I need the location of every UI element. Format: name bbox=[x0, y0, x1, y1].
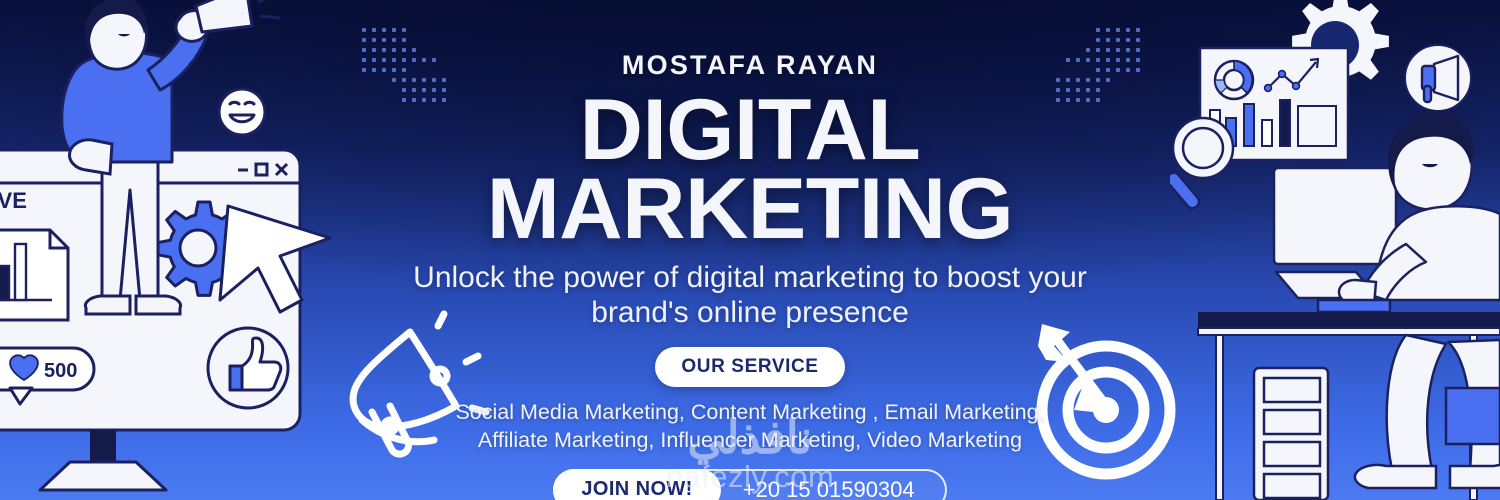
phone-number[interactable]: +20 15 01590304 bbox=[721, 477, 941, 500]
banner-content: MOSTAFA RAYAN DIGITAL MARKETING Unlock t… bbox=[370, 0, 1130, 500]
services-list: Social Media Marketing, Content Marketin… bbox=[420, 399, 1080, 455]
left-illustration: LIVE bbox=[0, 0, 340, 500]
digital-marketing-banner: LIVE bbox=[0, 0, 1500, 500]
magnifier-icon bbox=[1170, 118, 1233, 211]
megaphone-badge-icon bbox=[1405, 45, 1471, 111]
person-at-desk-illustration bbox=[1198, 110, 1500, 500]
likes-count: 500 bbox=[44, 360, 77, 382]
live-label: LIVE bbox=[0, 188, 27, 213]
cta-group[interactable]: JOIN NOW! +20 15 01590304 bbox=[553, 469, 946, 500]
our-service-badge: OUR SERVICE bbox=[655, 347, 844, 387]
smiley-face-icon bbox=[219, 89, 265, 135]
join-now-button[interactable]: JOIN NOW! bbox=[553, 469, 720, 500]
subtitle: Unlock the power of digital marketing to… bbox=[400, 261, 1100, 331]
page-title: DIGITAL MARKETING bbox=[362, 91, 1137, 249]
right-illustration bbox=[1170, 0, 1500, 500]
monitor-illustration: LIVE bbox=[0, 150, 330, 490]
brand-name: MOSTAFA RAYAN bbox=[622, 50, 878, 81]
filing-cabinet bbox=[1254, 368, 1328, 500]
